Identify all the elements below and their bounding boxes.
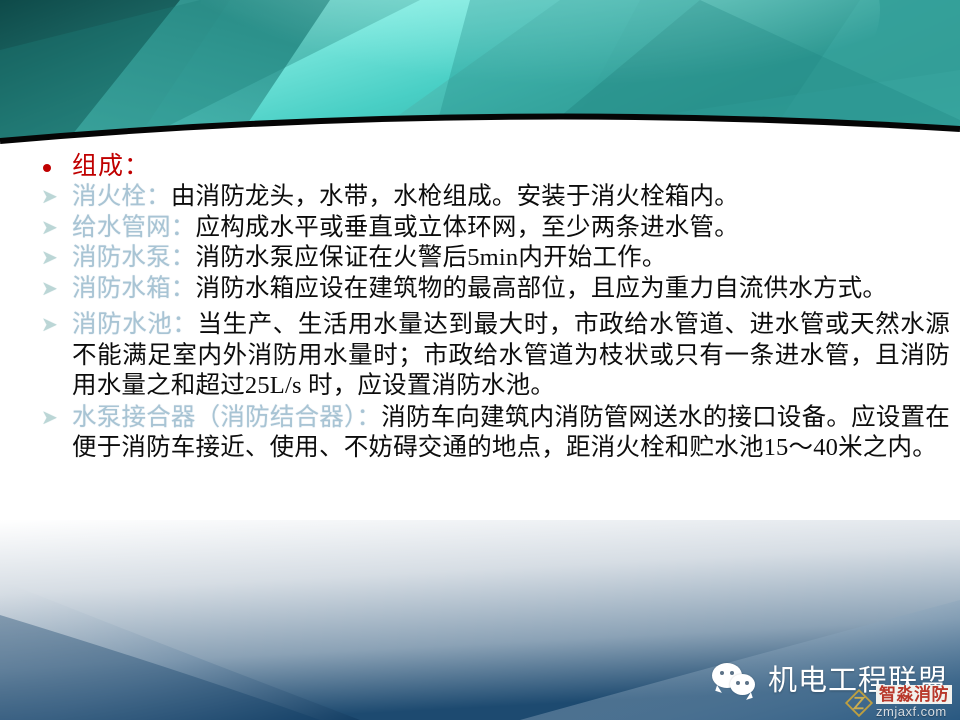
slide-canvas: 组成： ➤ 消火栓：由消防龙头，水带，水枪组成。安装于消火栓箱内。 ➤ 给水管网… [0,0,960,720]
list-item-lead: 给水管网： [72,214,196,241]
list-item: ➤ 消防水池：当生产、生活用水量达到最大时，市政给水管道、进水管或天然水源不能满… [0,310,960,402]
banner-art [0,0,960,150]
list-item-lead: 消防水池： [72,311,198,338]
watermark-url-text: zmjaxf.com [876,705,952,718]
slide-body: 组成： ➤ 消火栓：由消防龙头，水带，水枪组成。安装于消火栓箱内。 ➤ 给水管网… [0,150,960,464]
list-item-text: 消防水池：当生产、生活用水量达到最大时，市政给水管道、进水管或天然水源不能满足室… [72,310,950,402]
list-item-lead: 消防水箱： [72,275,196,302]
arrow-bullet-icon: ➤ [40,310,72,340]
arrow-bullet-icon: ➤ [40,243,72,273]
page-title: 组成： [72,151,950,182]
list-item: ➤ 水泵接合器（消防结合器）：消防车向建筑内消防管网送水的接口设备。应设置在便于… [0,403,960,464]
list-item: ➤ 给水管网：应构成水平或垂直或立体环网，至少两条进水管。 [0,213,960,244]
list-item-lead: 消防水泵： [72,244,196,271]
list-item: ➤ 消火栓：由消防龙头，水带，水枪组成。安装于消火栓箱内。 [0,182,960,213]
watermark-cn-text: 智淼消防 [876,685,952,704]
arrow-bullet-icon: ➤ [40,182,72,212]
list-item-body: 消防水箱应设在建筑物的最高部位，且应为重力自流供水方式。 [196,275,888,302]
arrow-bullet-icon: ➤ [40,274,72,304]
wechat-icon [712,661,762,701]
arrow-bullet-icon: ➤ [40,213,72,243]
list-item-lead: 水泵接合器（消防结合器）： [72,404,381,431]
list-item-text: 水泵接合器（消防结合器）：消防车向建筑内消防管网送水的接口设备。应设置在便于消防… [72,403,950,464]
list-item: ➤ 消防水箱：消防水箱应设在建筑物的最高部位，且应为重力自流供水方式。 [0,274,960,305]
site-watermark: 智淼消防 zmjaxf.com [844,685,952,718]
list-item-text: 消防水箱：消防水箱应设在建筑物的最高部位，且应为重力自流供水方式。 [72,274,950,305]
list-item-body: 消防水泵应保证在火警后5min内开始工作。 [196,244,667,271]
heading-row: 组成： [0,151,960,182]
zmjaxf-diamond-icon [844,688,874,718]
list-item-body: 由消防龙头，水带，水枪组成。安装于消火栓箱内。 [171,183,739,210]
list-item-lead: 消火栓： [72,183,171,210]
list-item: ➤ 消防水泵：消防水泵应保证在火警后5min内开始工作。 [0,243,960,274]
list-item-body: 应构成水平或垂直或立体环网，至少两条进水管。 [196,214,739,241]
banner-decoration [0,0,960,150]
list-item-body: 当生产、生活用水量达到最大时，市政给水管道、进水管或天然水源不能满足室内外消防用… [72,311,950,399]
list-item-text: 给水管网：应构成水平或垂直或立体环网，至少两条进水管。 [72,213,950,244]
arrow-bullet-icon: ➤ [40,403,72,433]
dot-bullet-icon [40,151,72,176]
list-item-text: 消火栓：由消防龙头，水带，水枪组成。安装于消火栓箱内。 [72,182,950,213]
list-item-text: 消防水泵：消防水泵应保证在火警后5min内开始工作。 [72,243,950,274]
